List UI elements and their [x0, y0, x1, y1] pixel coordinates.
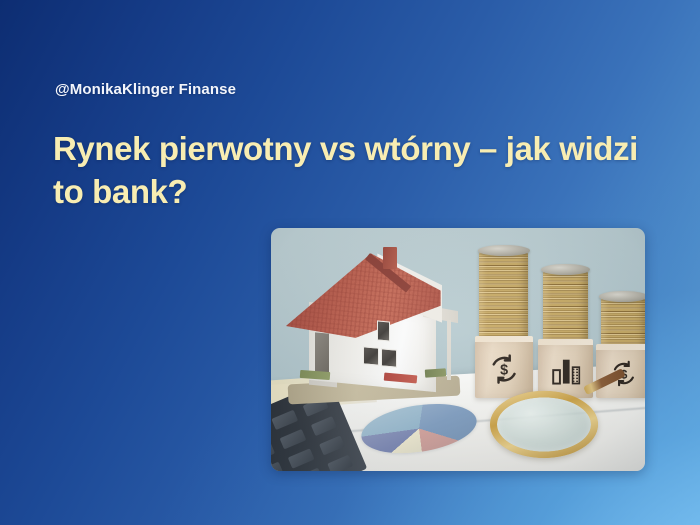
calculator-key: [271, 461, 284, 471]
photo-scene: $: [271, 228, 645, 471]
coin-top-face: [541, 264, 589, 275]
calculator-key: [311, 416, 338, 437]
magnifying-glass: [490, 388, 598, 461]
page-title: Rynek pierwotny vs wtórny – jak widzi to…: [53, 128, 653, 214]
house-door: [315, 333, 329, 374]
coin-stack-coins: [601, 296, 645, 348]
model-house: [286, 247, 462, 398]
coin-stack-coins: [479, 250, 528, 340]
calculator-key: [272, 409, 299, 430]
house-window: [377, 321, 390, 342]
house-bench-green: [300, 370, 330, 380]
calculator-key: [327, 454, 354, 471]
coin-stack-coins: [543, 269, 589, 343]
coin-stack-medium: [538, 269, 592, 398]
magnifier-lens: [490, 391, 598, 458]
house-window: [363, 346, 379, 366]
house-porch-post: [447, 320, 451, 380]
coin-stack-tall: $: [475, 250, 533, 398]
calculator-key: [297, 468, 324, 471]
calculator-key: [288, 448, 315, 469]
house-chimney: [383, 247, 397, 268]
calculator-keypad: [271, 396, 354, 471]
headline-line-2: to bank?: [53, 171, 653, 214]
account-handle: @MonikaKlinger Finanse: [55, 81, 236, 98]
social-post-slide: @MonikaKlinger Finanse Rynek pierwotny v…: [0, 0, 700, 525]
svg-text:$: $: [500, 363, 508, 379]
coin-top-face: [478, 245, 530, 256]
headline-line-1: Rynek pierwotny vs wtórny – jak widzi: [53, 128, 653, 171]
calculator-key: [319, 435, 346, 456]
calculator-key: [280, 429, 307, 450]
house-window: [381, 348, 397, 368]
calculator-key: [271, 442, 276, 463]
hero-photo: $: [271, 228, 645, 471]
coin-top-face: [599, 291, 645, 302]
